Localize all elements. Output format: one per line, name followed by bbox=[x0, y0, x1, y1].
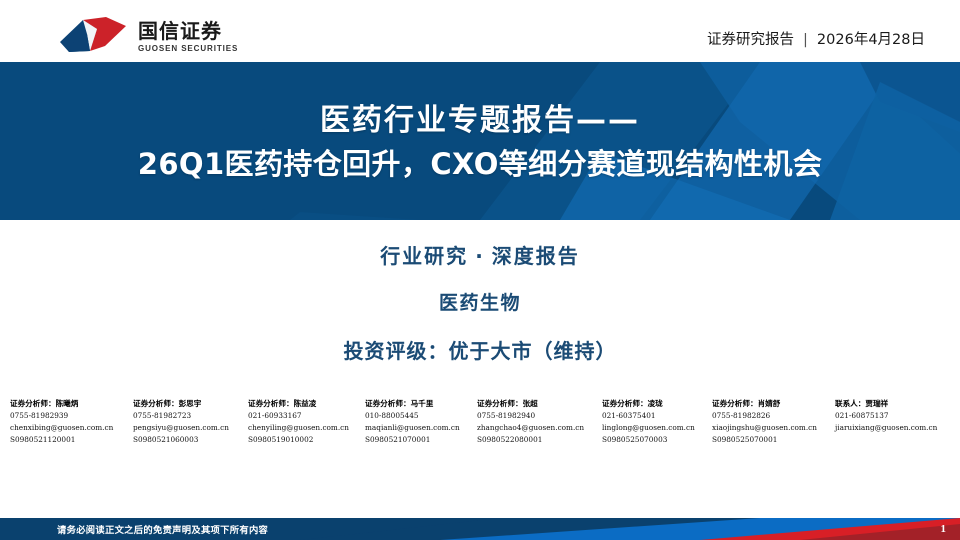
analyst-email[interactable]: chenyiling@guosen.com.cn bbox=[248, 422, 365, 434]
analyst-entry: 证券分析师：陈曦炳 0755-81982939 chenxibing@guose… bbox=[10, 398, 133, 446]
analyst-role-label: 证券分析师： bbox=[365, 399, 411, 408]
analyst-entry: 证券分析师：肖婧舒 0755-81982826 xiaojingshu@guos… bbox=[712, 398, 835, 446]
analyst-role-and-name: 证券分析师：陈曦炳 bbox=[10, 398, 133, 410]
analyst-email[interactable]: xiaojingshu@guosen.com.cn bbox=[712, 422, 835, 434]
header-meta: 证券研究报告 | 2026年4月28日 bbox=[707, 28, 925, 49]
analyst-role-label: 证券分析师： bbox=[248, 399, 294, 408]
analyst-email[interactable]: zhangchao4@guosen.com.cn bbox=[477, 422, 602, 434]
analyst-name: 陈益凌 bbox=[294, 399, 317, 408]
logo-name-en: GUOSEN SECURITIES bbox=[138, 44, 238, 53]
analyst-email[interactable]: maqianli@guosen.com.cn bbox=[365, 422, 477, 434]
analyst-role-and-name: 证券分析师：马千里 bbox=[365, 398, 477, 410]
analyst-license: S0980521060003 bbox=[133, 434, 248, 446]
analyst-phone: 0755-81982826 bbox=[712, 410, 835, 422]
contact-role-and-name: 联系人：贾瑞祥 bbox=[835, 398, 937, 410]
analyst-license: S0980522080001 bbox=[477, 434, 602, 446]
analyst-role-label: 证券分析师： bbox=[712, 399, 758, 408]
analyst-name: 张超 bbox=[523, 399, 538, 408]
guosen-logo-icon bbox=[57, 17, 129, 55]
analyst-phone: 021-60375401 bbox=[602, 410, 712, 422]
analyst-entry: 证券分析师：张超 0755-81982940 zhangchao4@guosen… bbox=[477, 398, 602, 446]
logo-text-block: 国信证券 GUOSEN SECURITIES bbox=[138, 20, 238, 53]
title-banner: 医药行业专题报告—— 26Q1医药持仓回升，CXO等细分赛道现结构性机会 bbox=[0, 62, 960, 220]
analyst-name: 彭思宇 bbox=[179, 399, 202, 408]
contact-phone: 021-60875137 bbox=[835, 410, 937, 422]
report-meta-block: 行业研究·深度报告 医药生物 投资评级：优于大市（维持） bbox=[0, 240, 960, 364]
analyst-name: 陈曦炳 bbox=[56, 399, 79, 408]
contact-entry: 联系人：贾瑞祥 021-60875137 jiaruixiang@guosen.… bbox=[835, 398, 937, 434]
report-type-label: 证券研究报告 bbox=[707, 28, 794, 49]
report-cover-page: 国信证券 GUOSEN SECURITIES 证券研究报告 | 2026年4月2… bbox=[0, 0, 960, 540]
contact-email[interactable]: jiaruixiang@guosen.com.cn bbox=[835, 422, 937, 434]
report-title-line1: 医药行业专题报告—— bbox=[320, 102, 640, 140]
analyst-role-label: 证券分析师： bbox=[10, 399, 56, 408]
analyst-license: S0980519010002 bbox=[248, 434, 365, 446]
banner-text-block: 医药行业专题报告—— 26Q1医药持仓回升，CXO等细分赛道现结构性机会 bbox=[0, 62, 960, 220]
investment-rating: 投资评级：优于大市（维持） bbox=[344, 335, 617, 364]
analyst-name: 肖婧舒 bbox=[758, 399, 781, 408]
analyst-role-label: 证券分析师： bbox=[602, 399, 648, 408]
analyst-license: S0980525070003 bbox=[602, 434, 712, 446]
analyst-license: S0980525070001 bbox=[712, 434, 835, 446]
analyst-role-and-name: 证券分析师：肖婧舒 bbox=[712, 398, 835, 410]
meta-dot-separator: · bbox=[468, 244, 492, 268]
analyst-entry: 证券分析师：彭思宇 0755-81982723 pengsiyu@guosen.… bbox=[133, 398, 248, 446]
analyst-email[interactable]: linglong@guosen.com.cn bbox=[602, 422, 712, 434]
page-footer: 请务必阅读正文之后的免责声明及其项下所有内容 1 bbox=[0, 518, 960, 540]
analyst-entry: 证券分析师：凌珑 021-60375401 linglong@guosen.co… bbox=[602, 398, 712, 446]
analyst-phone: 021-60933167 bbox=[248, 410, 365, 422]
analyst-role-and-name: 证券分析师：凌珑 bbox=[602, 398, 712, 410]
analyst-entry: 证券分析师：马千里 010-88005445 maqianli@guosen.c… bbox=[365, 398, 477, 446]
contact-role-label: 联系人： bbox=[835, 399, 865, 408]
analyst-phone: 0755-81982723 bbox=[133, 410, 248, 422]
logo-name-cn: 国信证券 bbox=[138, 20, 238, 42]
report-date: 2026年4月28日 bbox=[817, 28, 925, 49]
research-category-line: 行业研究·深度报告 bbox=[380, 240, 580, 269]
industry-label: 医药生物 bbox=[439, 288, 521, 315]
company-logo: 国信证券 GUOSEN SECURITIES bbox=[57, 17, 238, 55]
analyst-phone: 0755-81982940 bbox=[477, 410, 602, 422]
analyst-phone: 010-88005445 bbox=[365, 410, 477, 422]
analyst-list: 证券分析师：陈曦炳 0755-81982939 chenxibing@guose… bbox=[10, 398, 954, 446]
analyst-name: 凌珑 bbox=[648, 399, 663, 408]
analyst-role-and-name: 证券分析师：张超 bbox=[477, 398, 602, 410]
analyst-license: S0980521070001 bbox=[365, 434, 477, 446]
analyst-phone: 0755-81982939 bbox=[10, 410, 133, 422]
contact-name: 贾瑞祥 bbox=[865, 399, 888, 408]
analyst-name: 马千里 bbox=[411, 399, 434, 408]
analyst-role-label: 证券分析师： bbox=[477, 399, 523, 408]
page-header: 国信证券 GUOSEN SECURITIES 证券研究报告 | 2026年4月2… bbox=[0, 0, 960, 62]
research-type-label: 行业研究 bbox=[380, 244, 468, 268]
analyst-role-and-name: 证券分析师：彭思宇 bbox=[133, 398, 248, 410]
report-title-line2: 26Q1医药持仓回升，CXO等细分赛道现结构性机会 bbox=[138, 146, 822, 184]
analyst-role-and-name: 证券分析师：陈益凌 bbox=[248, 398, 365, 410]
page-number: 1 bbox=[941, 518, 947, 540]
disclaimer-text: 请务必阅读正文之后的免责声明及其项下所有内容 bbox=[0, 518, 560, 540]
header-separator: | bbox=[803, 32, 808, 48]
analyst-license: S0980521120001 bbox=[10, 434, 133, 446]
analyst-role-label: 证券分析师： bbox=[133, 399, 179, 408]
analyst-entry: 证券分析师：陈益凌 021-60933167 chenyiling@guosen… bbox=[248, 398, 365, 446]
analyst-email[interactable]: pengsiyu@guosen.com.cn bbox=[133, 422, 248, 434]
analyst-email[interactable]: chenxibing@guosen.com.cn bbox=[10, 422, 133, 434]
report-depth-label: 深度报告 bbox=[492, 244, 580, 268]
